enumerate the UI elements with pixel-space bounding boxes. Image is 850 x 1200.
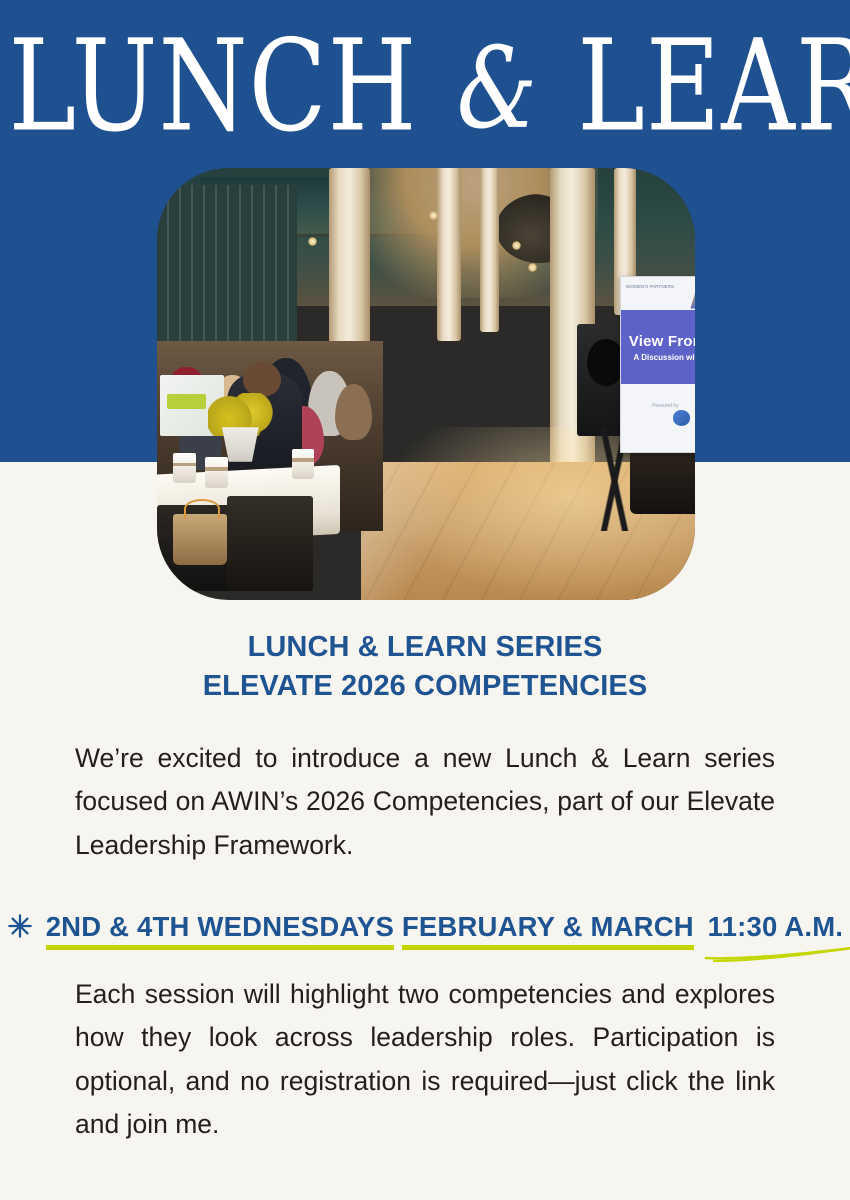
swoosh-underline-icon [702, 939, 850, 963]
series-heading: LUNCH & LEARN SERIES ELEVATE 2026 COMPET… [0, 628, 850, 705]
lunch-and-learn-flyer: { "header": { "title_part1": "LUNCH", "a… [0, 0, 850, 1200]
coffee-cup [292, 449, 315, 479]
screen-slide-body: View Fron A Discussion wit [621, 310, 695, 384]
schedule-time-label: 11:30 A.M. [708, 911, 844, 942]
details-paragraph: Each session will highlight two competen… [75, 973, 775, 1146]
intro-paragraph: We’re excited to introduce a new Lunch &… [75, 737, 775, 867]
schedule-line-1: 2ND & 4TH WEDNESDAYS [7, 910, 394, 944]
lobby-column [480, 168, 499, 332]
page-title: LUNCH & LEARN [9, 22, 842, 149]
ceiling-downlight [429, 211, 438, 220]
screen-powered-by-text: Powered by [621, 403, 695, 409]
starburst-asterisk-icon [7, 913, 33, 939]
page-title-part-1: LUNCH [9, 11, 418, 160]
coffee-cup [173, 453, 196, 483]
event-photo-scene: WOMEN’S PARTNERS View Fron A Discussion … [157, 168, 695, 600]
event-photo: WOMEN’S PARTNERS View Fron A Discussion … [157, 168, 695, 600]
person-center-necklace-chain [157, 168, 159, 169]
screen-logo-icon [690, 284, 695, 309]
screen-slide-subtitle: A Discussion wit [634, 353, 695, 362]
page-title-ampersand: & [451, 23, 544, 154]
schedule-line-2: FEBRUARY & MARCH 11:30 A.M. [402, 910, 843, 944]
schedule-days: 2ND & 4TH WEDNESDAYS [46, 910, 394, 944]
coffee-cup [205, 457, 228, 487]
schedule-time: 11:30 A.M. [708, 910, 844, 944]
screen-sponsor-logo-icon [673, 410, 691, 426]
ceiling-downlight [308, 237, 317, 246]
presentation-screen: WOMEN’S PARTNERS View Fron A Discussion … [620, 276, 695, 453]
screen-logo-text: WOMEN’S PARTNERS [626, 284, 680, 307]
banquet-chair [227, 496, 313, 591]
schedule-block: 2ND & 4TH WEDNESDAYS FEBRUARY & MARCH 11… [0, 901, 850, 944]
schedule-months: FEBRUARY & MARCH [402, 910, 694, 944]
page-title-part-2: LEARN [577, 11, 850, 160]
lobby-glass-wall [157, 185, 297, 341]
series-heading-line-2: ELEVATE 2026 COMPETENCIES [0, 667, 850, 706]
screen-slide-title: View Fron [629, 333, 695, 350]
series-heading-line-1: LUNCH & LEARN SERIES [0, 628, 850, 667]
handbag [173, 514, 227, 566]
lobby-column [437, 168, 461, 341]
